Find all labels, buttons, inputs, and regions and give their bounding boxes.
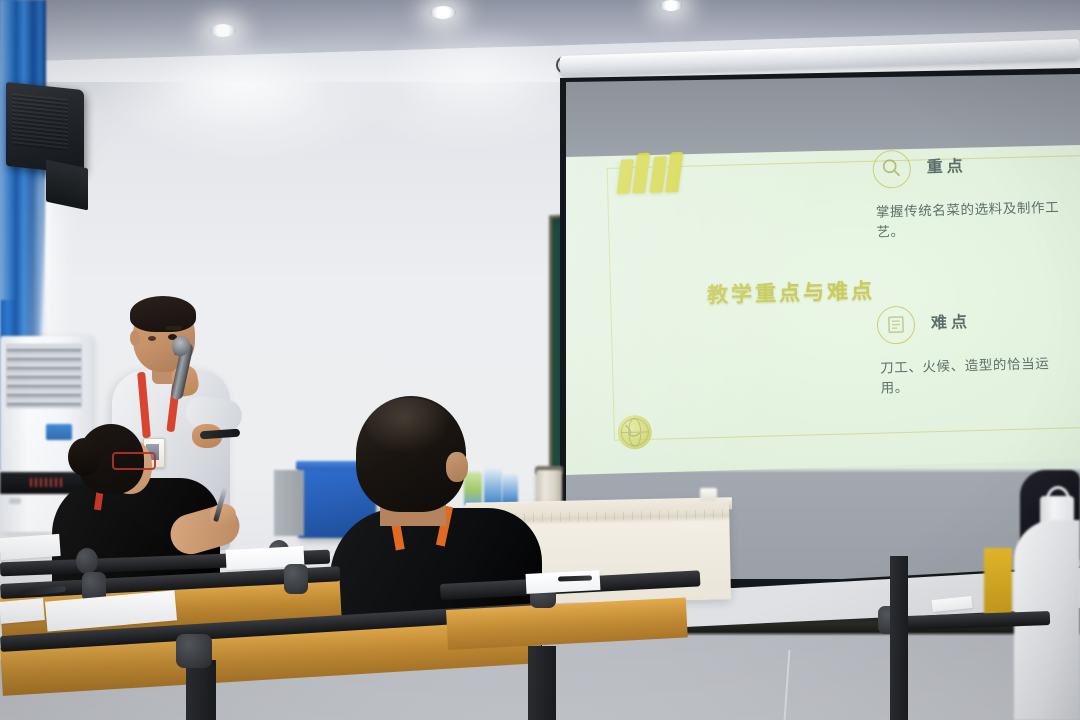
- slide-point-heading: 重点: [926, 152, 967, 177]
- ceiling-downlight: [660, 0, 682, 11]
- presenter-eyebrow: [166, 326, 182, 330]
- presenter-eye: [148, 336, 156, 341]
- wall-light-pool: [380, 24, 570, 119]
- paper-sheet: [0, 534, 61, 560]
- slide-point-heading: 难点: [931, 308, 972, 333]
- speaker-bracket: [46, 160, 88, 211]
- slide-border: [614, 426, 1080, 441]
- slide-point-body: 掌握传统名菜的选料及制作工艺。: [876, 198, 1065, 243]
- presenter-hair: [130, 296, 196, 332]
- small-cup[interactable]: [700, 488, 717, 501]
- eyeglasses-icon: [112, 452, 156, 470]
- air-conditioner-button[interactable]: [9, 498, 21, 504]
- attendee-center-ear: [446, 452, 468, 482]
- presenter-ear: [130, 330, 140, 346]
- paper-sheet: [526, 570, 601, 594]
- air-conditioner-label: [46, 424, 72, 440]
- desk-bracket: [76, 548, 98, 574]
- book-icon: [876, 306, 915, 345]
- speaker-grille-icon: [12, 93, 68, 151]
- quotation-mark-icon: [618, 152, 679, 198]
- classroom-photo: 教学重点与难点 重点 掌握传统名菜的选料及制作工艺。: [0, 0, 1080, 720]
- slide-title: 教学重点与难点: [666, 274, 917, 311]
- desk-bracket: [176, 634, 212, 668]
- attendee-front-left-hair-bun: [68, 438, 100, 476]
- slide-content: 教学重点与难点 重点 掌握传统名菜的选料及制作工艺。: [566, 131, 1080, 475]
- desk-leg: [186, 660, 216, 720]
- attendee-center-hair-highlight: [366, 398, 452, 454]
- desk-bracket: [284, 564, 308, 594]
- desk-leg: [528, 646, 556, 720]
- ceiling-downlight: [210, 24, 236, 37]
- air-conditioner-vents: [6, 344, 82, 408]
- desk-leg: [890, 556, 908, 720]
- ceiling-downlight: [430, 6, 456, 19]
- grey-equipment-panel: [274, 470, 304, 536]
- globe-icon: [617, 415, 652, 450]
- slide-point-key: 重点 掌握传统名菜的选料及制作工艺。: [872, 146, 1062, 151]
- slide-border: [607, 168, 615, 440]
- slide-point-body: 刀工、火候、造型的恰当运用。: [880, 354, 1069, 399]
- water-bottle[interactable]: [484, 468, 502, 506]
- wall-light-pool: [150, 40, 330, 130]
- paper-sheet: [0, 598, 45, 624]
- chair-back: [984, 548, 1012, 618]
- air-conditioner-display: [30, 478, 64, 487]
- water-bottle[interactable]: [464, 472, 482, 506]
- magnifier-icon: [872, 150, 911, 189]
